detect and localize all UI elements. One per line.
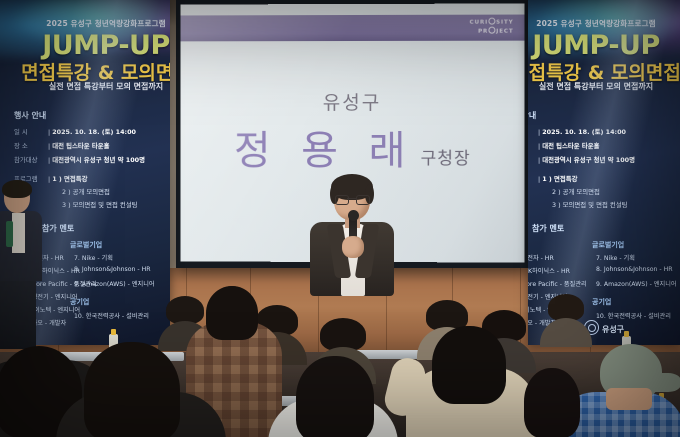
info-r-value-2: 대전광역시 유성구 청년 약 100명 (542, 156, 635, 164)
banner-left-info-row-2: 참가대상| 대전광역시 유성구 청년 약 100명 (14, 155, 145, 164)
banner-right-col3-heading: 공기업 (592, 297, 611, 307)
banner-left-title3: 실전 면접 특강부터 모의 면접까지 (0, 81, 170, 92)
logo-line-2b: JECT (496, 29, 513, 35)
info-r-value-3: 1 ) 면접특강 (542, 175, 577, 183)
banner-right-col2-heading: 글로벌기업 (592, 240, 624, 250)
banner-left-program-2: 3 ) 모의면접 및 면접 컨설팅 (62, 200, 138, 209)
info-r-label-1: 장 소 (528, 141, 538, 150)
audience-head (84, 342, 180, 437)
banner-left-program-1: 2 ) 공개 모의면접 (62, 187, 110, 196)
banner-left-kicker: 2025 유성구 청년역량강화프로그램 (0, 18, 170, 29)
banner-right-title: JUMP-UP (528, 30, 680, 61)
banner-left-col2-heading: 글로벌기업 (70, 240, 102, 250)
logo-line-2: PR (478, 29, 488, 35)
banner-right-program-1: 2 ) 공개 모의면접 (552, 187, 600, 196)
banner-right-col1-item-0: 1. 삼성전자 - HR (528, 253, 554, 262)
banner-right-info-heading: 행사 안내 (528, 110, 536, 121)
curiosity-project-logo: CURISITY PRJECT (470, 18, 514, 36)
info-r-label-0: 일 시 (528, 127, 538, 136)
info-label-2: 참가대상 (14, 155, 48, 164)
banner-right-program-2: 3 ) 모의면접 및 면접 컨설팅 (552, 200, 628, 209)
slide-speaker-role: 구청장 (421, 149, 471, 169)
banner-right-col2-item-0: 7. Nike - 기획 (596, 253, 635, 262)
slide-name-line: 정 용 래구청장 (181, 118, 525, 176)
info-label-1: 장 소 (14, 141, 48, 150)
banner-right-col2-item-2: 9. Amazon(AWS) - 엔지니어 (596, 279, 677, 288)
event-photo: CURISITY PRJECT 유성구 정 용 래구청장 2025 유성구 청년… (0, 0, 680, 437)
info-label-0: 일 시 (14, 127, 48, 136)
banner-left-info-row-0: 일 시| 2025. 10. 18. (토) 14:00 (14, 127, 136, 136)
banner-left-title: JUMP-UP (0, 30, 170, 61)
logo-line-1: CURI (470, 20, 488, 26)
audience-head (296, 356, 374, 437)
banner-right-mentor-heading: 참가 멘토 (532, 223, 564, 234)
info-r-value-1: 대전 팁스타운 타운홀 (542, 142, 599, 150)
banner-left-col2-item-0: 7. Nike - 기획 (74, 253, 113, 262)
banner-right-info-row-3: 프로그램| 1 ) 면접특강 (528, 174, 578, 183)
audience-head (206, 286, 258, 340)
slide-subtitle: 유성구 (181, 88, 525, 115)
microphone-head-icon (348, 210, 359, 221)
audience-neck (606, 388, 652, 410)
logo-ring-icon (489, 18, 496, 25)
info-r-value-0: 2025. 10. 18. (토) 14:00 (542, 128, 626, 136)
logo-ring-icon-2 (489, 27, 496, 34)
banner-left-col2-item-1: 8. Johnson&Johnson - HR (74, 266, 151, 273)
banner-right-col3-item-0: 10. 한국전력공사 - 설비관리 (596, 311, 671, 320)
info-value-3: 1 ) 면접특강 (52, 175, 87, 183)
banner-right: 2025 유성구 청년역량강화프로그램 JUMP-UP 면접특강 & 모의면접 … (528, 0, 680, 345)
org-logo-text: 유성구 (602, 325, 624, 334)
audience-head (524, 368, 580, 437)
banner-right-info-row-1: 장 소| 대전 팁스타운 타운홀 (528, 141, 600, 150)
banner-right-title3: 실전 면접 특강부터 모의 면접까지 (528, 81, 680, 92)
slide-speaker-name: 정 용 래 (234, 128, 415, 174)
info-r-label-3: 프로그램 (528, 174, 538, 183)
audience-head (548, 294, 584, 336)
banner-left-col2-item-2: 9. Amazon(AWS) - 엔지니어 (74, 279, 155, 288)
speaker-presenter (304, 178, 400, 296)
banner-left-info-heading: 행사 안내 (14, 110, 46, 121)
banner-right-kicker: 2025 유성구 청년역량강화프로그램 (528, 18, 680, 29)
banner-right-col1-item-2: 3. Amore Pacific - 품질관리 (528, 279, 587, 288)
banner-left-col3-item-0: 10. 한국전력공사 - 설비관리 (74, 311, 149, 320)
info-r-label-2: 참가대상 (528, 155, 538, 164)
banner-left-mentor-heading: 참가 멘토 (42, 223, 74, 234)
banner-left-col3-heading: 공기업 (70, 297, 89, 307)
banner-right-col1-item-1: 2. 前 SK하이닉스 - HR (528, 266, 570, 275)
info-value-1: 대전 팁스타운 타운홀 (52, 142, 109, 150)
info-value-2: 대전광역시 유성구 청년 약 100명 (52, 156, 145, 164)
banner-right-info-row-0: 일 시| 2025. 10. 18. (토) 14:00 (528, 127, 626, 136)
audience-head (432, 326, 506, 404)
banner-right-col2-item-1: 8. Johnson&Johnson - HR (596, 266, 673, 273)
banner-left-info-row-1: 장 소| 대전 팁스타운 타운홀 (14, 141, 110, 150)
banner-right-info-row-2: 참가대상| 대전광역시 유성구 청년 약 100명 (528, 155, 635, 164)
logo-line-1b: SITY (496, 20, 513, 26)
standing-person-left (0, 183, 46, 348)
info-value-0: 2025. 10. 18. (토) 14:00 (52, 128, 136, 136)
